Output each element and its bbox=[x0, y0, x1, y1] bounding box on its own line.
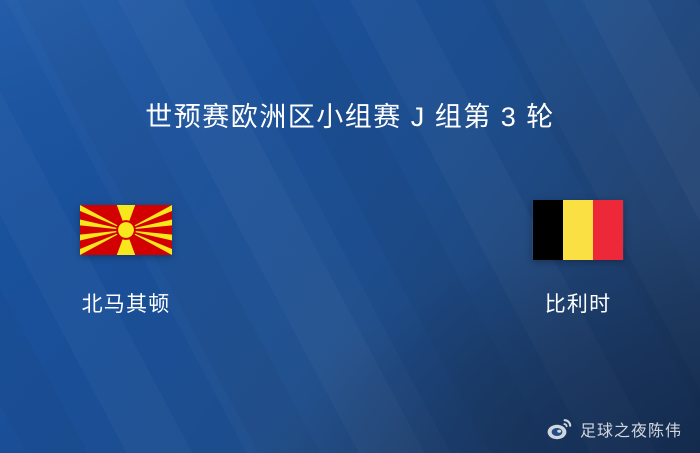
away-team-name: 比利时 bbox=[468, 288, 688, 318]
home-flag-wrap bbox=[16, 196, 236, 264]
match-graphic: 世预赛欧洲区小组赛 J 组第 3 轮 bbox=[0, 0, 700, 453]
away-team-block: 比利时 bbox=[468, 196, 688, 318]
weibo-logo-icon bbox=[547, 418, 573, 440]
home-team-block: 北马其顿 bbox=[16, 196, 236, 318]
home-team-name: 北马其顿 bbox=[16, 288, 236, 318]
watermark-text: 足球之夜陈伟 bbox=[580, 417, 682, 441]
watermark: 足球之夜陈伟 bbox=[547, 417, 682, 441]
flag-north-macedonia-icon bbox=[80, 205, 172, 255]
away-flag-wrap bbox=[468, 196, 688, 264]
page-title: 世预赛欧洲区小组赛 J 组第 3 轮 bbox=[0, 100, 700, 134]
flag-belgium-icon bbox=[532, 200, 624, 260]
